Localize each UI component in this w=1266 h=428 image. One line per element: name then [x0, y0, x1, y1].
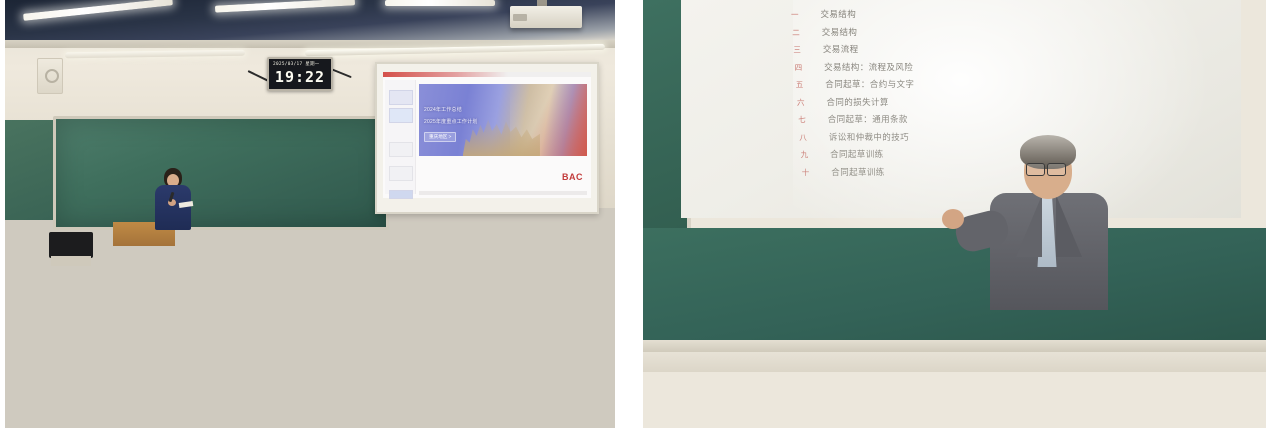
slide-outline-text: 合同起草训练: [831, 166, 884, 178]
screenshot-canvas: 2025/03/17 星期一 19:22 2024年工作总结: [0, 0, 1266, 428]
slide-outline-number: 六: [797, 97, 805, 108]
digital-wall-clock: 2025/03/17 星期一 19:22: [267, 57, 333, 91]
lecturer-glasses-right: [1047, 163, 1066, 176]
slide-outline-text: 合同起草：通用条款: [828, 113, 908, 125]
slide-outline-text: 合同起草：合约与文字: [825, 78, 914, 90]
slide-surface: 2024年工作总结 2025年度重点工作计划 重庆地区 > BAC: [383, 72, 591, 198]
clock-date: 2025/03/17 星期一: [273, 61, 319, 67]
slide-outline-row: 四交易结构：流程及风险: [795, 61, 914, 73]
slide-outline-number: 五: [796, 79, 804, 90]
slide-title-line-2: 2025年度重点工作计划: [424, 118, 478, 125]
projection-screen: 2024年工作总结 2025年度重点工作计划 重庆地区 > BAC: [375, 62, 599, 214]
slide-outline-text: 诉讼和仲裁中的技巧: [829, 131, 909, 143]
slide-outline-text: 合同起草训练: [830, 148, 883, 160]
slide-outline-text: 交易结构: [821, 8, 857, 20]
slide-outline-row: 三交易流程: [793, 43, 858, 55]
slide-region-button: 重庆地区 >: [424, 132, 456, 142]
slide-app-topbar: [383, 72, 591, 77]
slide-outline-row: 七合同起草：通用条款: [798, 113, 908, 125]
clock-time: 19:22: [269, 68, 331, 86]
slide-outline-number: 二: [792, 27, 800, 38]
slide-hero-banner: 2024年工作总结 2025年度重点工作计划 重庆地区 >: [419, 84, 587, 156]
slide-outline-row: 八诉讼和仲裁中的技巧: [799, 131, 909, 143]
slide-outline-text: 交易结构: [822, 26, 858, 38]
ceiling-light: [385, 0, 495, 6]
slide-outline-number: 八: [799, 132, 807, 143]
chalkboard-side-panel: [5, 120, 55, 220]
slide-outline-text: 交易流程: [823, 43, 859, 55]
slide-outline-number: 十: [802, 167, 810, 178]
slide-title-line-1: 2024年工作总结: [424, 106, 462, 113]
slide-thumbnail-pane: [385, 80, 416, 194]
slide-outline-row: 九合同起草训练: [801, 148, 884, 160]
slide-outline-number: 七: [798, 114, 806, 125]
chalkboard: [53, 116, 389, 230]
podium-monitor-base: [51, 256, 91, 266]
podium-monitor: [49, 232, 93, 258]
projector-lens: [513, 14, 527, 21]
slide-footer-bar: [419, 191, 587, 195]
slide-thumbnail: [389, 90, 413, 105]
slide-outline-row: 十合同起草训练: [802, 166, 885, 178]
slide-outline-row: 一交易结构: [791, 8, 856, 20]
slide-logo: BAC: [562, 172, 583, 182]
slide-outline-number: 一: [791, 9, 799, 20]
slide-thumbnail: [389, 190, 413, 199]
photo-left-lecture-hall: 2025/03/17 星期一 19:22 2024年工作总结: [5, 0, 615, 428]
chalkboard: [643, 228, 1266, 348]
lower-wall: [643, 352, 1266, 372]
slide-outline-text: 交易结构：流程及风险: [824, 61, 913, 73]
slide-outline-number: 三: [793, 44, 801, 55]
lecturer-hand: [942, 209, 964, 229]
slide-thumbnail: [389, 108, 413, 123]
slide-outline-number: 四: [795, 62, 803, 73]
photo-right-lecturer: 一交易结构二交易结构三交易流程四交易结构：流程及风险五合同起草：合约与文字六合同…: [643, 0, 1266, 428]
wall-unit: [37, 58, 63, 94]
lecturer-male: [990, 135, 1108, 310]
slide-thumbnail: [389, 142, 413, 157]
presenter-female: [155, 168, 191, 230]
slide-outline-row: 五合同起草：合约与文字: [796, 78, 915, 90]
slide-outline-number: 九: [801, 149, 809, 160]
slide-outline-row: 二交易结构: [792, 26, 857, 38]
lecturer-glasses-left: [1026, 163, 1045, 176]
slide-outline-text: 合同的损失计算: [827, 96, 889, 108]
slide-thumbnail: [389, 166, 413, 181]
slide-outline-row: 六合同的损失计算: [797, 96, 889, 108]
